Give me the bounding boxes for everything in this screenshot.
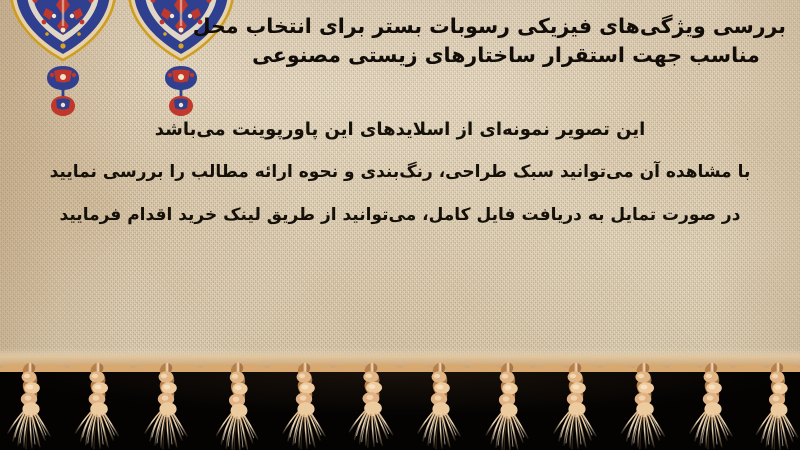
slide-body: این تصویر نمونه‌ای از اسلایدهای این پاور… (18, 108, 782, 237)
slide-title-line-1: بررسی ویژگی‌های فیزیکی رسوبات بستر برای … (226, 12, 786, 41)
slide-title: بررسی ویژگی‌های فیزیکی رسوبات بستر برای … (226, 12, 786, 70)
body-line-1: این تصویر نمونه‌ای از اسلایدهای این پاور… (18, 108, 782, 151)
black-base-band (0, 368, 800, 450)
slide-title-line-2: مناسب جهت استقرار ساختارهای زیستی مصنوعی (226, 41, 786, 70)
carpet-selvedge-band (0, 352, 800, 372)
body-line-3: در صورت تمایل به دریافت فایل کامل، می‌تو… (18, 194, 782, 237)
slide-canvas: بررسی ویژگی‌های فیزیکی رسوبات بستر برای … (0, 0, 800, 450)
body-line-2: با مشاهده آن می‌توانید سبک طراحی، رنگ‌بن… (18, 151, 782, 194)
